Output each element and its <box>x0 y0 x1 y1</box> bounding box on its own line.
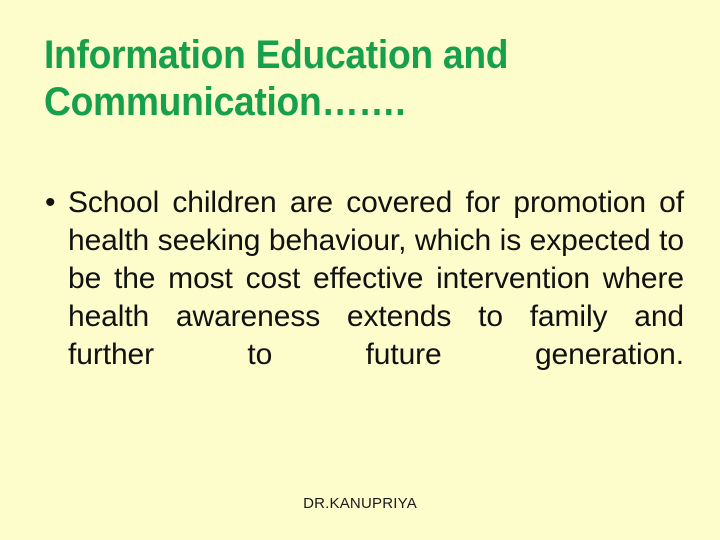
slide-canvas: Information Education and Communication…… <box>0 0 720 540</box>
slide-footer-author: DR.KANUPRIYA <box>0 495 720 513</box>
bullet-icon: • <box>45 184 65 222</box>
body-content: • School children are covered for promot… <box>44 184 684 412</box>
page-title: Information Education and Communication…… <box>44 32 639 126</box>
list-item: • School children are covered for promot… <box>44 184 684 412</box>
list-item-label: School children are covered for promotio… <box>68 184 684 412</box>
